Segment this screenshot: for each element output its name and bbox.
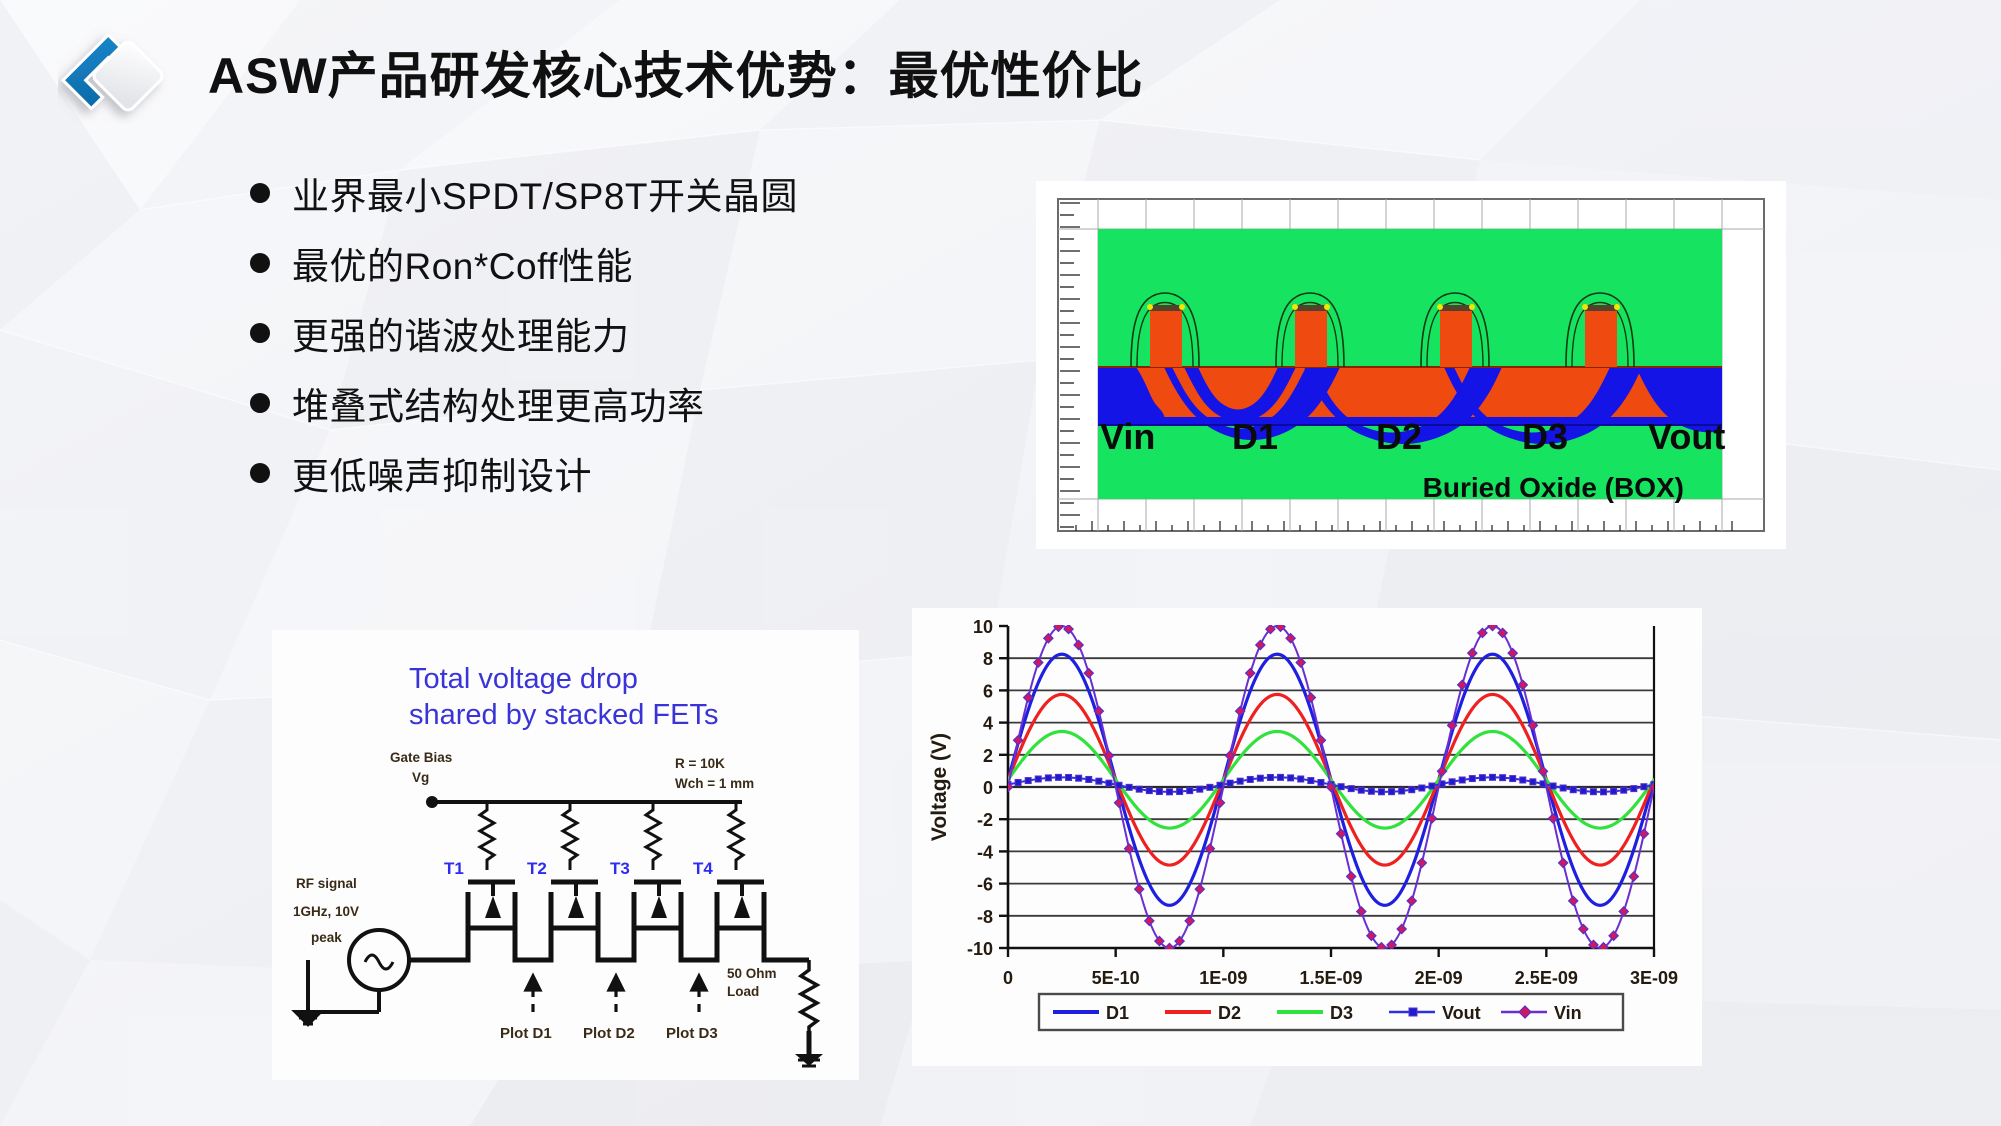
marker-vout (1570, 787, 1576, 793)
fet-label-t1: T1 (444, 859, 464, 878)
xsection-label-vout: Vout (1648, 416, 1725, 457)
list-item: 更强的谐波处理能力 (250, 298, 950, 368)
marker-vout (1530, 779, 1536, 785)
marker-vout (1217, 782, 1223, 788)
y-tick-label: 6 (983, 681, 993, 701)
marker-vout (1479, 775, 1485, 781)
marker-vout (1187, 788, 1193, 794)
load-label-line1: 50 Ohm (727, 966, 777, 981)
stacked-fet-circuit-panel: Total voltage drop shared by stacked FET… (272, 630, 859, 1080)
list-item: 业界最小SPDT/SP8T开关晶圆 (250, 158, 950, 228)
xsection-label-d3: D3 (1522, 416, 1568, 457)
marker-vout (1086, 776, 1092, 782)
marker-vout (1015, 779, 1021, 785)
list-item: 更低噪声抑制设计 (250, 438, 950, 508)
x-tick-label: 2.5E-09 (1515, 968, 1578, 988)
rf-label-line2: 1GHz, 10V (293, 904, 359, 919)
marker-vout (1611, 788, 1617, 794)
x-tick-label: 1E-09 (1199, 968, 1247, 988)
marker-vout (1510, 776, 1516, 782)
bullet-label: 业界最小SPDT/SP8T开关晶圆 (292, 166, 798, 220)
marker-vout (1550, 783, 1556, 789)
bullet-label: 更强的谐波处理能力 (292, 306, 630, 360)
marker-vout (1449, 779, 1455, 785)
legend-label-d3: D3 (1330, 1003, 1353, 1023)
marker-vout (1177, 789, 1183, 795)
y-tick-label: -4 (977, 842, 993, 862)
probe-label-d1: Plot D1 (500, 1025, 552, 1042)
stacked-fet-schematic: Total voltage drop shared by stacked FET… (272, 630, 859, 1080)
marker-vout (1368, 788, 1374, 794)
marker-vout (1358, 787, 1364, 793)
marker-vout (1045, 775, 1051, 781)
marker-vout (1207, 784, 1213, 790)
marker-vout (1490, 774, 1496, 780)
marker-vout (1308, 778, 1314, 784)
y-tick-label: 4 (983, 714, 993, 734)
marker-vout (1560, 785, 1566, 791)
marker-vout (1278, 774, 1284, 780)
y-tick-label: -8 (977, 907, 993, 927)
cross-section-figure: Vin D1 D2 D3 Vout Buried Oxide (BOX) (1036, 181, 1786, 549)
x-tick-label: 5E-10 (1092, 968, 1140, 988)
legend-marker-vout (1409, 1008, 1417, 1016)
marker-vout (1338, 784, 1344, 790)
voltage-vs-time-chart: 1086420-2-4-6-8-1005E-101E-091.5E-092E-0… (912, 608, 1702, 1066)
bullet-dot-icon (250, 393, 270, 413)
marker-vout (1419, 785, 1425, 791)
fet-label-t2: T2 (527, 859, 547, 878)
x-tick-label: 0 (1003, 968, 1013, 988)
y-tick-label: -10 (967, 939, 993, 959)
marker-vout (1227, 780, 1233, 786)
marker-vout (1500, 775, 1506, 781)
marker-vout (1025, 778, 1031, 784)
legend-label-vin: Vin (1554, 1003, 1582, 1023)
feature-bullet-list: 业界最小SPDT/SP8T开关晶圆 最优的Ron*Coff性能 更强的谐波处理能… (250, 158, 950, 508)
marker-vout (1055, 774, 1061, 780)
marker-vout (1136, 786, 1142, 792)
marker-vout (1146, 788, 1152, 794)
marker-vout (1298, 776, 1304, 782)
marker-vout (1288, 775, 1294, 781)
legend-label-vout: Vout (1442, 1003, 1481, 1023)
y-tick-label: -6 (977, 875, 993, 895)
marker-vout (1116, 782, 1122, 788)
fet-label-t4: T4 (693, 859, 713, 878)
marker-vout (1076, 775, 1082, 781)
marker-vout (1167, 789, 1173, 795)
marker-vout (1520, 777, 1526, 783)
marker-vout (1318, 779, 1324, 785)
bullet-label: 更低噪声抑制设计 (292, 446, 592, 500)
probe-label-d2: Plot D2 (583, 1025, 635, 1042)
gate-bias-label-line2: Vg (412, 770, 429, 785)
marker-vout (1580, 788, 1586, 794)
marker-vout (1459, 777, 1465, 783)
bullet-dot-icon (250, 463, 270, 483)
y-tick-label: 0 (983, 778, 993, 798)
marker-vout (1469, 776, 1475, 782)
list-item: 堆叠式结构处理更高功率 (250, 368, 950, 438)
xsection-label-box: Buried Oxide (BOX) (1423, 472, 1684, 503)
circuit-headline-line2: shared by stacked FETs (409, 699, 718, 731)
marker-vout (1257, 775, 1263, 781)
y-axis-label: Voltage (V) (928, 733, 951, 841)
marker-vout (1409, 787, 1415, 793)
bullet-label: 最优的Ron*Coff性能 (292, 236, 633, 290)
marker-vout (1237, 778, 1243, 784)
marker-vout (1601, 789, 1607, 795)
page-title: ASW产品研发核心技术优势：最优性价比 (208, 36, 1144, 108)
list-item: 最优的Ron*Coff性能 (250, 228, 950, 298)
rf-label-line1: RF signal (296, 876, 357, 891)
marker-vout (1267, 774, 1273, 780)
legend-label-d1: D1 (1106, 1003, 1129, 1023)
marker-vout (1066, 774, 1072, 780)
load-label-line2: Load (727, 984, 759, 999)
xsection-label-d1: D1 (1232, 416, 1278, 457)
y-tick-label: 8 (983, 649, 993, 669)
marker-vout (1621, 787, 1627, 793)
slide-header: ASW产品研发核心技术优势：最优性价比 (0, 0, 2001, 150)
bullet-dot-icon (250, 253, 270, 273)
xsection-label-d2: D2 (1376, 416, 1422, 457)
waveform-chart-panel: 1086420-2-4-6-8-1005E-101E-091.5E-092E-0… (912, 608, 1702, 1066)
marker-vout (1035, 776, 1041, 782)
marker-vout (1197, 786, 1203, 792)
marker-vout (1641, 784, 1647, 790)
marker-vout (1156, 789, 1162, 795)
marker-vout (1126, 784, 1132, 790)
chevron-diamond-logo-icon (58, 28, 178, 124)
marker-vout (1096, 778, 1102, 784)
marker-vout (1106, 780, 1112, 786)
gate-bias-label-line1: Gate Bias (390, 750, 452, 765)
rf-label-line3: peak (311, 930, 342, 945)
circuit-headline-line1: Total voltage drop (409, 663, 638, 695)
bullet-dot-icon (250, 183, 270, 203)
xsection-label-vin: Vin (1100, 416, 1155, 457)
marker-vout (1247, 776, 1253, 782)
x-tick-label: 1.5E-09 (1299, 968, 1362, 988)
marker-vout (1348, 786, 1354, 792)
marker-vout (1378, 789, 1384, 795)
resistor-label-line1: R = 10K (675, 756, 725, 771)
bullet-dot-icon (250, 323, 270, 343)
x-tick-label: 3E-09 (1630, 968, 1678, 988)
marker-vout (1399, 788, 1405, 794)
fet-label-t3: T3 (610, 859, 630, 878)
marker-vout (1631, 786, 1637, 792)
device-cross-section-panel: Vin D1 D2 D3 Vout Buried Oxide (BOX) (1036, 181, 1786, 549)
marker-vout (1389, 789, 1395, 795)
legend-label-d2: D2 (1218, 1003, 1241, 1023)
y-tick-label: -2 (977, 810, 993, 830)
marker-vout (1590, 789, 1596, 795)
resistor-label-line2: Wch = 1 mm (675, 776, 754, 791)
bullet-label: 堆叠式结构处理更高功率 (292, 376, 705, 430)
x-tick-label: 2E-09 (1415, 968, 1463, 988)
y-tick-label: 10 (973, 617, 993, 637)
y-tick-label: 2 (983, 746, 993, 766)
marker-vout (1429, 783, 1435, 789)
probe-label-d3: Plot D3 (666, 1025, 718, 1042)
